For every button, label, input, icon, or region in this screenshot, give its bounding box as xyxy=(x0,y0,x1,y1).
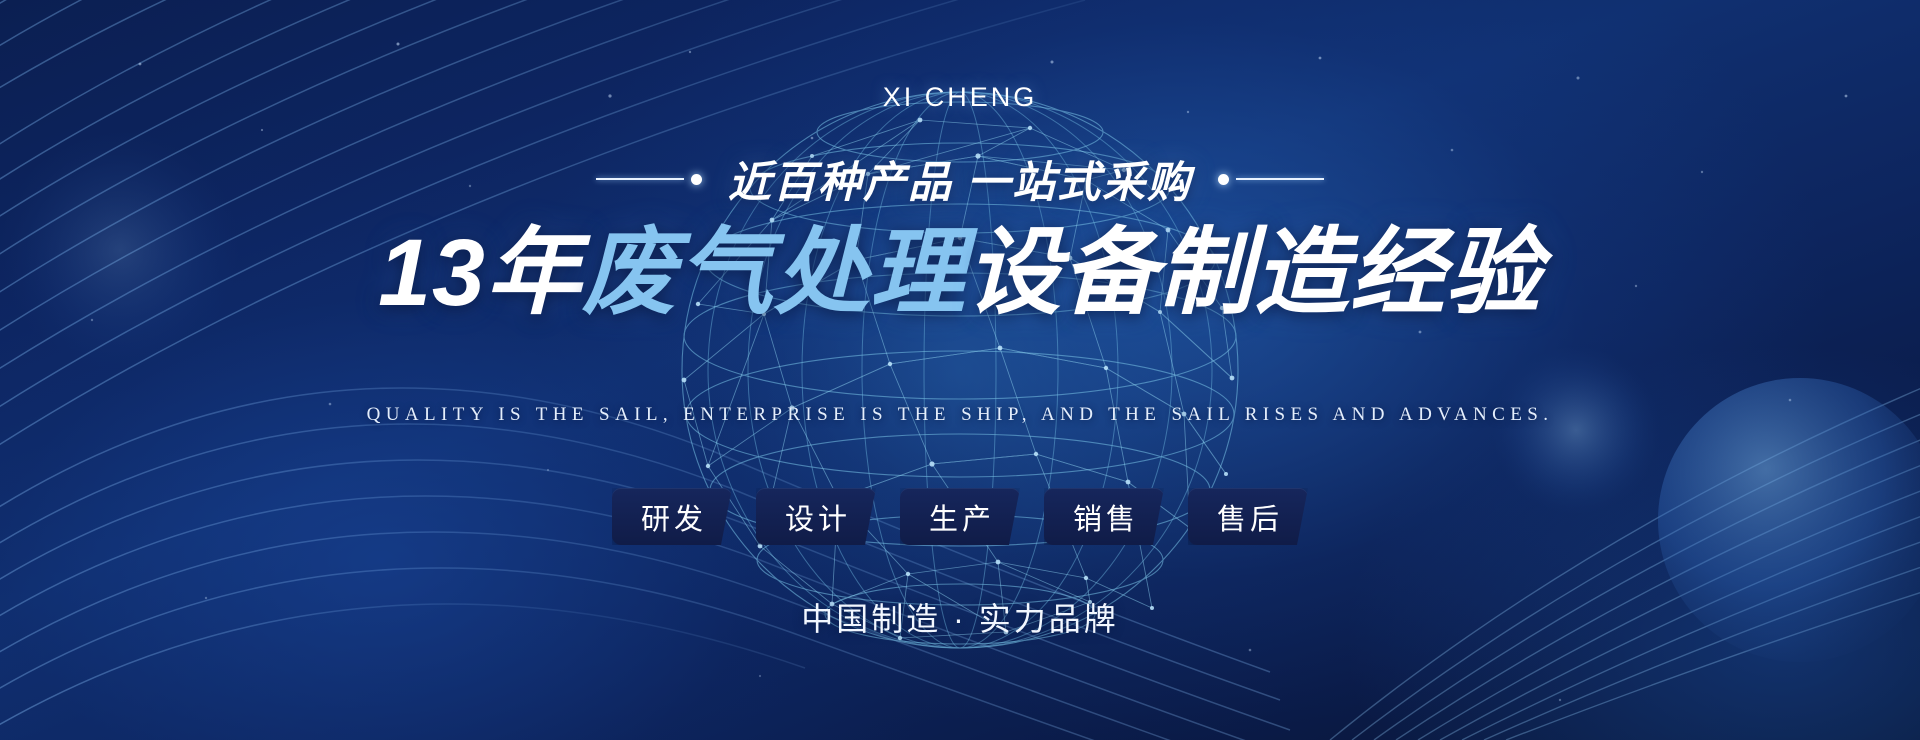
rule-line xyxy=(596,178,684,180)
english-tagline: QUALITY IS THE SAIL, ENTERPRISE IS THE S… xyxy=(0,404,1920,426)
headline: 13年废气处理设备制造经验 xyxy=(0,222,1920,325)
brand-name: XI CHENG xyxy=(0,82,1920,113)
service-tag-production[interactable]: 生产 xyxy=(900,488,1020,545)
rule-dot xyxy=(691,174,702,185)
subtitle-text: 近百种产品 一站式采购 xyxy=(728,148,1192,210)
service-tag-list: 研发 设计 生产 销售 售后 xyxy=(0,488,1920,545)
service-tag-design[interactable]: 设计 xyxy=(756,488,876,545)
hero-banner: XI CHENG 近百种产品 一站式采购 13年废气处理设备制造经验 QUALI… xyxy=(0,0,1920,740)
footer-slogan: 中国制造 · 实力品牌 xyxy=(0,594,1920,640)
right-rule-decoration xyxy=(1218,174,1324,185)
headline-highlight: 废气处理 xyxy=(582,220,966,326)
service-tag-aftersales[interactable]: 售后 xyxy=(1188,488,1308,545)
headline-prefix: 13年 xyxy=(378,220,582,326)
subtitle-row: 近百种产品 一站式采购 xyxy=(0,148,1920,210)
headline-suffix: 设备制造经验 xyxy=(966,220,1542,326)
service-tag-sales[interactable]: 销售 xyxy=(1044,488,1164,545)
rule-dot xyxy=(1218,174,1229,185)
left-rule-decoration xyxy=(596,174,702,185)
rule-line xyxy=(1236,178,1324,180)
service-tag-research[interactable]: 研发 xyxy=(612,488,732,545)
